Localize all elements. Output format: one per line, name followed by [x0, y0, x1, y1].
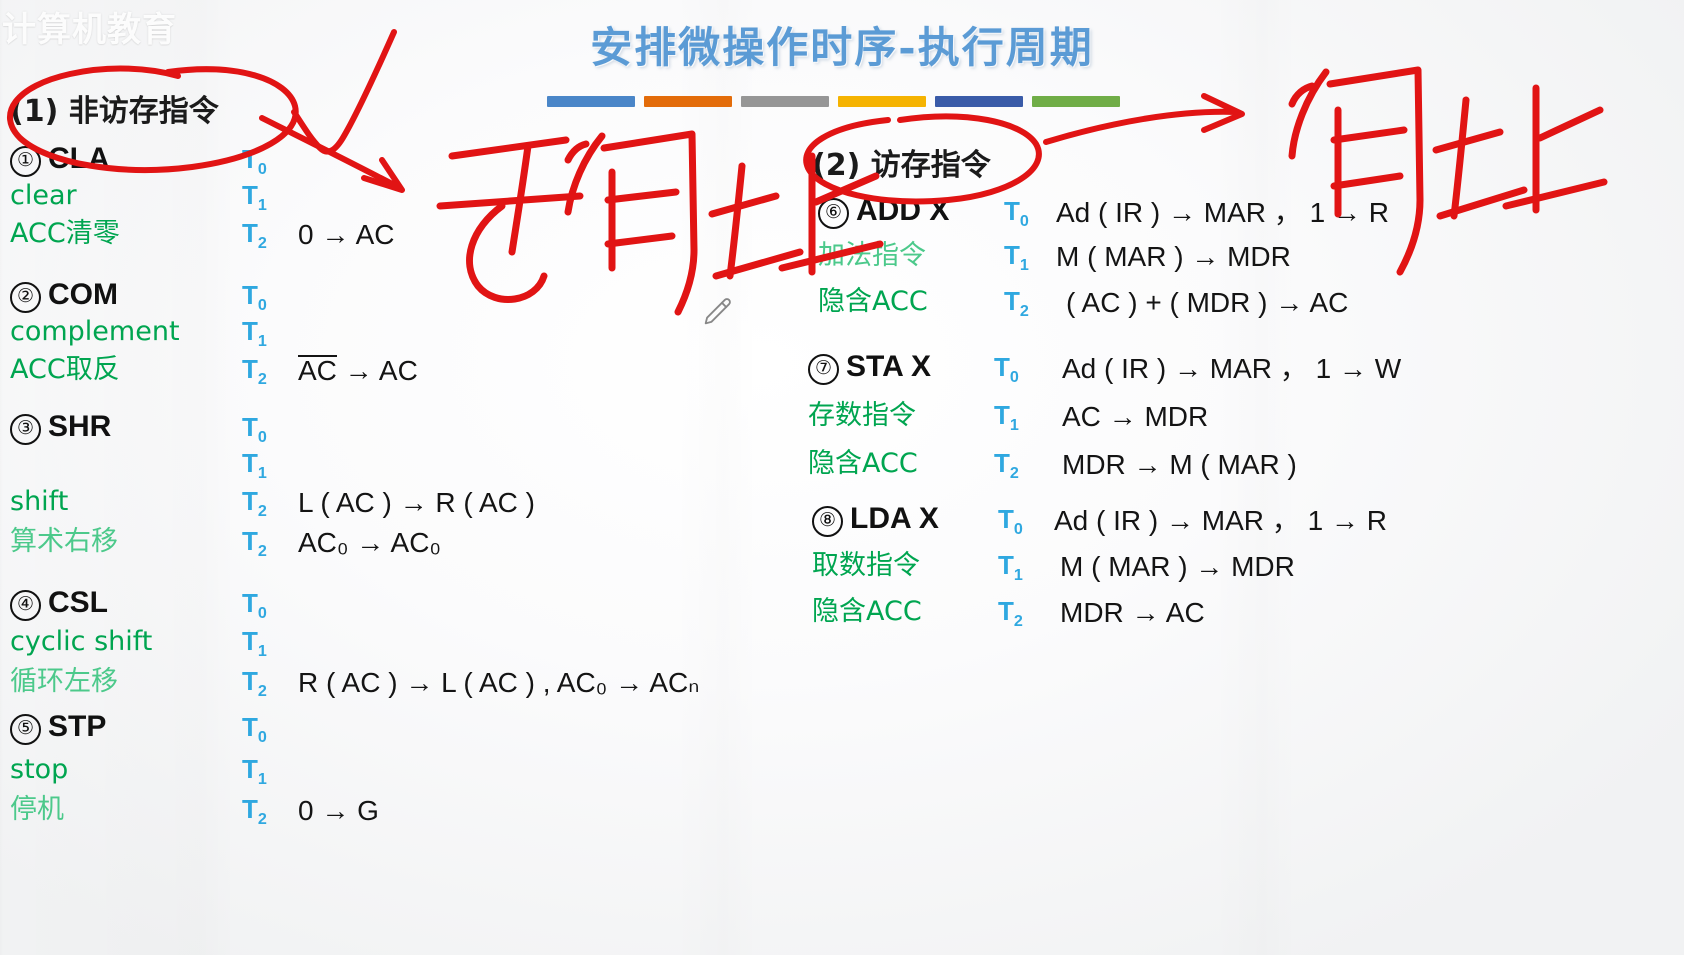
timing-sub: 2 [1010, 464, 1019, 482]
complement-operand: AC [298, 355, 337, 385]
instruction-cla: ①CLA clear ACC清零 T0 T1 T2 0 → AC [10, 142, 800, 256]
timing-signal: T2 [998, 594, 1050, 640]
timing-sub: 1 [258, 770, 267, 788]
instruction-mnemonic: ⑤STP [10, 710, 242, 752]
timing-signal: T2 [242, 216, 298, 256]
timing-signal: T1 [242, 314, 298, 352]
timing-signal: T1 [242, 624, 298, 664]
instruction-name: ADD X [856, 194, 949, 227]
timing-sub: 0 [1020, 212, 1029, 230]
instruction-gloss-zh: 停机 [10, 792, 242, 834]
timing-signal: T2 [242, 484, 298, 524]
instruction-gloss-en: complement [10, 314, 242, 352]
timing-signal: T1 [1004, 238, 1056, 284]
instruction-gloss-zh-1: 存数指令 [808, 398, 994, 446]
instruction-index: ⑦ [808, 354, 839, 385]
instruction-gloss-zh-1: 加法指令 [818, 238, 1004, 284]
instruction-index: ④ [10, 590, 41, 621]
instruction-index: ① [10, 146, 41, 177]
instruction-gloss-en: clear [10, 178, 242, 216]
timing-sub: 1 [258, 332, 267, 350]
instruction-mnemonic: ⑥ADD X [818, 194, 1004, 238]
micro-operation: L ( AC ) → R ( AC ) [298, 484, 800, 524]
instruction-gloss-en: shift [10, 484, 242, 524]
instruction-name: CSL [48, 586, 108, 619]
timing-sub: 1 [258, 642, 267, 660]
instruction-name: LDA X [850, 502, 939, 535]
timing-signal: T0 [998, 502, 1050, 548]
timing-signal: T2 [242, 352, 298, 392]
slide-title: 安排微操作时序-执行周期 [0, 14, 1684, 75]
instruction-name: STA X [846, 350, 931, 383]
timing-sub: 1 [258, 464, 267, 482]
instruction-shr: ③SHR shift 算术右移 T0 T1 T2 T2 L ( AC ) → R… [10, 410, 800, 566]
timing-signal: T0 [242, 142, 298, 178]
left-column: (1) 非访存指令 ①CLA clear ACC清零 T0 T1 T2 0 → … [10, 86, 800, 834]
timing-sub: 1 [1014, 566, 1023, 584]
arrow-right-to-note [1046, 112, 1236, 142]
timing-sub: 2 [258, 370, 267, 388]
timing-sub: 1 [258, 196, 267, 214]
instruction-index: ⑥ [818, 198, 849, 229]
instruction-stp: ⑤STP stop 停机 T0 T1 T2 0 → G [10, 710, 800, 834]
instruction-mnemonic: ⑧LDA X [812, 502, 998, 548]
right-section-heading: (2) 访存指令 [812, 140, 1680, 184]
instruction-gloss-en: stop [10, 752, 242, 792]
timing-sub: 0 [1010, 368, 1019, 386]
timing-signal: T0 [242, 278, 298, 314]
micro-operation: M ( MAR ) → MDR [1050, 548, 1680, 594]
timing-signal: T2 [242, 664, 298, 706]
timing-signal: T0 [242, 710, 298, 752]
micro-operation: Ad ( IR ) → MAR ， 1 → R [1056, 194, 1680, 238]
right-column: (2) 访存指令 ⑥ADD X 加法指令 隐含ACC T0 T1 T2 Ad (… [800, 140, 1680, 640]
timing-sub: 2 [258, 542, 267, 560]
timing-signal: T1 [994, 398, 1046, 446]
micro-operation: M ( MAR ) → MDR [1056, 238, 1680, 284]
timing-sub: 0 [258, 604, 267, 622]
timing-sub: 0 [258, 728, 267, 746]
left-section-heading: (1) 非访存指令 [10, 86, 800, 130]
micro-operation: Ad ( IR ) → MAR ， 1 → W [1046, 350, 1680, 398]
bar-darkblue [935, 96, 1023, 107]
arrow-right-to-note-head [1204, 96, 1242, 130]
instruction-name: COM [48, 278, 118, 311]
instruction-com: ②COM complement ACC取反 T0 T1 T2 AC → AC [10, 278, 800, 392]
timing-sub: 2 [258, 234, 267, 252]
micro-operation: MDR → M ( MAR ) [1046, 446, 1680, 494]
timing-signal: T0 [242, 586, 298, 624]
micro-operation: Ad ( IR ) → MAR ， 1 → R [1050, 502, 1680, 548]
pencil-icon [700, 295, 734, 329]
timing-signal: T2 [242, 792, 298, 834]
instruction-lda: ⑧LDA X 取数指令 隐含ACC T0 T1 T2 Ad ( IR ) → M… [800, 502, 1680, 640]
timing-signal: T1 [998, 548, 1050, 594]
instruction-gloss-zh: 循环左移 [10, 664, 242, 706]
timing-signal: T2 [242, 524, 298, 566]
instruction-name: STP [48, 710, 106, 743]
timing-sub: 0 [258, 428, 267, 446]
instruction-gloss-en: cyclic shift [10, 624, 242, 664]
micro-operation: 0 → AC [298, 216, 800, 256]
instruction-gloss-zh-2: 隐含ACC [812, 594, 998, 640]
instruction-mnemonic: ④CSL [10, 586, 242, 624]
timing-signal: T2 [994, 446, 1046, 494]
timing-signal: T0 [242, 410, 298, 446]
timing-sub: 2 [1020, 302, 1029, 320]
micro-operation: AC → MDR [1046, 398, 1680, 446]
timing-signal: T0 [1004, 194, 1056, 238]
instruction-index: ③ [10, 414, 41, 445]
timing-sub: 2 [258, 810, 267, 828]
timing-sub: 2 [258, 682, 267, 700]
timing-signal: T2 [1004, 284, 1056, 332]
timing-sub: 1 [1020, 256, 1029, 274]
timing-sub: 1 [1010, 416, 1019, 434]
timing-signal: T1 [242, 446, 298, 484]
instruction-gloss-zh: ACC取反 [10, 352, 242, 392]
micro-operation: R ( AC ) → L ( AC ) , AC₀ → ACₙ [298, 664, 800, 706]
instruction-index: ② [10, 282, 41, 313]
instruction-name: CLA [48, 142, 110, 175]
micro-operation: 0 → G [298, 792, 800, 834]
instruction-gloss-zh-2: 隐含ACC [808, 446, 994, 494]
timing-sub: 2 [258, 502, 267, 520]
timing-signal: T0 [994, 350, 1046, 398]
instruction-index: ⑤ [10, 714, 41, 745]
slide-canvas: 计算机教育 安排微操作时序-执行周期 (1) 非访存指令 ①CLA clear … [0, 0, 1684, 955]
micro-operation: ( AC ) + ( MDR ) → AC [1056, 284, 1680, 332]
micro-operation: AC → AC [298, 352, 800, 392]
instruction-add: ⑥ADD X 加法指令 隐含ACC T0 T1 T2 Ad ( IR ) → M… [800, 194, 1680, 332]
timing-sub: 2 [1014, 612, 1023, 630]
timing-sub: 0 [258, 160, 267, 178]
instruction-index: ⑧ [812, 506, 843, 537]
channel-watermark: 计算机教育 [2, 2, 177, 51]
instruction-mnemonic: ①CLA [10, 142, 242, 178]
instruction-sta: ⑦STA X 存数指令 隐含ACC T0 T1 T2 Ad ( IR ) → M… [800, 350, 1680, 494]
instruction-mnemonic: ⑦STA X [808, 350, 994, 398]
instruction-gloss-zh-2: 隐含ACC [818, 284, 1004, 332]
timing-signal: T1 [242, 752, 298, 792]
timing-sub: 0 [258, 296, 267, 314]
instruction-gloss-zh-1: 取数指令 [812, 548, 998, 594]
bar-green [1032, 96, 1120, 107]
instruction-csl: ④CSL cyclic shift 循环左移 T0 T1 T2 R ( AC )… [10, 586, 800, 706]
micro-operation: MDR → AC [1050, 594, 1680, 640]
bar-yellow [838, 96, 926, 107]
instruction-gloss-zh: ACC清零 [10, 216, 242, 256]
instruction-mnemonic: ②COM [10, 278, 242, 314]
timing-sub: 0 [1014, 520, 1023, 538]
instruction-name: SHR [48, 410, 111, 443]
timing-signal: T1 [242, 178, 298, 216]
instruction-gloss-zh: 算术右移 [10, 524, 242, 566]
instruction-mnemonic: ③SHR [10, 410, 242, 446]
micro-operation: AC₀ → AC₀ [298, 524, 800, 566]
